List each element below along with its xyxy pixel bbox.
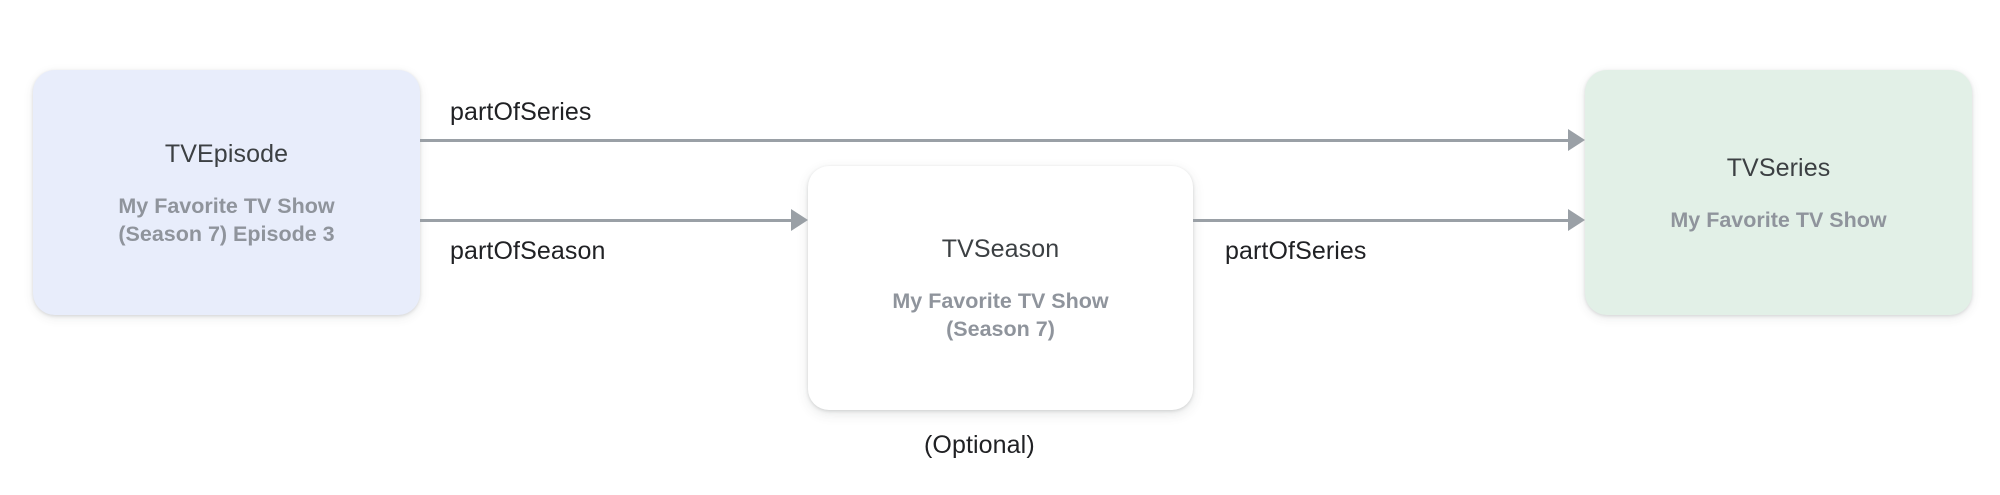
edge-season-to-series-line [1193, 219, 1568, 222]
edge-label-part-of-season: partOfSeason [450, 236, 605, 266]
node-tvseason[interactable]: TVSeason My Favorite TV Show (Season 7) [808, 166, 1193, 410]
node-tvseries-title: TVSeries [1727, 152, 1831, 184]
diagram-canvas: TVEpisode My Favorite TV Show (Season 7)… [0, 0, 2000, 495]
edge-episode-to-season-line [420, 219, 791, 222]
arrow-right-icon [1568, 129, 1585, 151]
node-tvseries[interactable]: TVSeries My Favorite TV Show [1585, 70, 1972, 315]
node-tvseason-optional-note: (Optional) [924, 430, 1035, 460]
node-tvseason-subtitle: My Favorite TV Show (Season 7) [892, 287, 1108, 343]
edge-label-part-of-series-bottom: partOfSeries [1225, 236, 1367, 266]
arrow-right-icon [1568, 209, 1585, 231]
node-tvepisode-subtitle: My Favorite TV Show (Season 7) Episode 3 [118, 192, 334, 248]
node-tvseries-subtitle: My Favorite TV Show [1670, 206, 1886, 234]
node-tvepisode-title: TVEpisode [165, 138, 288, 170]
node-tvepisode[interactable]: TVEpisode My Favorite TV Show (Season 7)… [33, 70, 420, 315]
edge-episode-to-series-line [420, 139, 1568, 142]
edge-label-part-of-series-top: partOfSeries [450, 97, 592, 127]
node-tvseason-title: TVSeason [942, 233, 1060, 265]
arrow-right-icon [791, 209, 808, 231]
